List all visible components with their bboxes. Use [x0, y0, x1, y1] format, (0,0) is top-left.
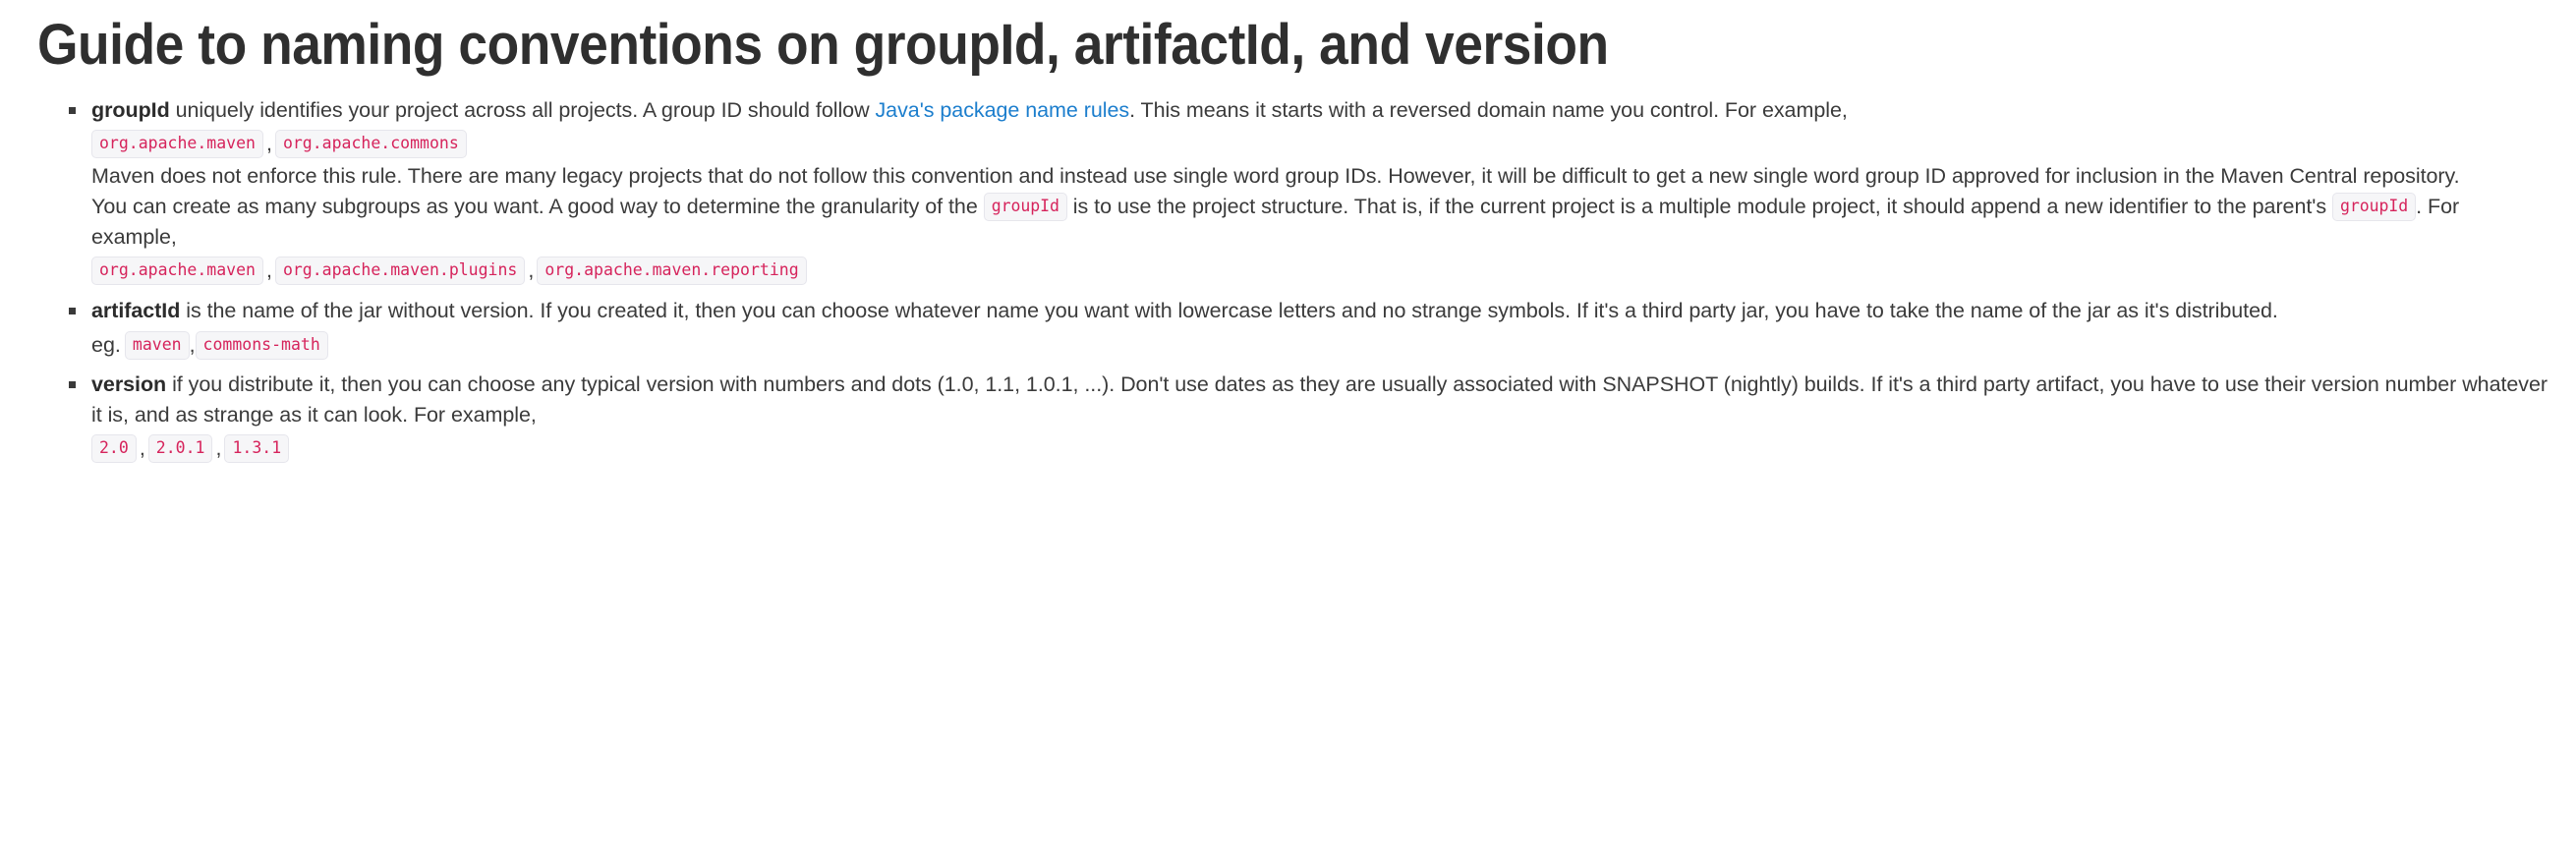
list-item-version: version if you distribute it, then you c…: [37, 370, 2548, 466]
groupid-lead-text-after: . This means it starts with a reversed d…: [1129, 98, 1848, 122]
code-chip: org.apache.maven.plugins: [275, 257, 525, 285]
square-bullet-icon: [69, 381, 76, 388]
term-version: version: [91, 372, 166, 396]
groupid-paragraph-2: Maven does not enforce this rule. There …: [91, 161, 2548, 192]
comma-separator: ,: [190, 333, 196, 357]
comma-separator: ,: [212, 430, 224, 466]
code-chip: commons-math: [196, 331, 328, 360]
code-chip: 2.0: [91, 434, 137, 463]
groupid-p3-part-a: You can create as many subgroups as you …: [91, 195, 984, 218]
groupid-examples-row-2: org.apache.maven,org.apache.maven.plugin…: [91, 253, 2548, 288]
code-chip: 1.3.1: [224, 434, 289, 463]
page-title: Guide to naming conventions on groupId, …: [37, 14, 2348, 78]
artifactid-examples-row: eg.maven,commons-math: [91, 328, 2548, 362]
groupid-p3-part-b: is to use the project structure. That is…: [1067, 195, 2332, 218]
square-bullet-icon: [69, 308, 76, 314]
code-chip: org.apache.commons: [275, 130, 467, 158]
document-page: Guide to naming conventions on groupId, …: [0, 0, 2576, 466]
version-examples-row: 2.0,2.0.1,1.3.1: [91, 430, 2548, 466]
version-intro-paragraph: version if you distribute it, then you c…: [91, 370, 2548, 430]
code-chip-groupid-1: groupId: [984, 193, 1067, 221]
square-bullet-icon: [69, 107, 76, 114]
comma-separator: ,: [263, 253, 275, 288]
code-chip-groupid-2: groupId: [2332, 193, 2416, 221]
code-chip: 2.0.1: [148, 434, 213, 463]
artifactid-lead-text: is the name of the jar without version. …: [180, 299, 2278, 322]
comma-separator: ,: [263, 126, 275, 161]
java-package-name-rules-link[interactable]: Java's package name rules: [875, 98, 1129, 122]
artifactid-intro-paragraph: artifactId is the name of the jar withou…: [91, 296, 2548, 326]
comma-separator: ,: [525, 253, 537, 288]
groupid-lead-text: uniquely identifies your project across …: [170, 98, 876, 122]
term-artifactid: artifactId: [91, 299, 180, 322]
groupid-intro-paragraph: groupId uniquely identifies your project…: [91, 95, 2548, 126]
code-chip: org.apache.maven.reporting: [537, 257, 806, 285]
groupid-examples-row-1: org.apache.maven,org.apache.commons: [91, 126, 2548, 161]
code-chip: maven: [125, 331, 190, 360]
code-chip: org.apache.maven: [91, 257, 263, 285]
list-item-artifactid: artifactId is the name of the jar withou…: [37, 296, 2548, 362]
naming-conventions-list: groupId uniquely identifies your project…: [37, 95, 2548, 466]
list-item-groupid: groupId uniquely identifies your project…: [37, 95, 2548, 288]
comma-separator: ,: [137, 430, 148, 466]
code-chip: org.apache.maven: [91, 130, 263, 158]
term-groupid: groupId: [91, 98, 170, 122]
eg-label: eg.: [91, 333, 121, 357]
groupid-paragraph-3: You can create as many subgroups as you …: [91, 192, 2548, 253]
version-lead-text: if you distribute it, then you can choos…: [91, 372, 2547, 427]
